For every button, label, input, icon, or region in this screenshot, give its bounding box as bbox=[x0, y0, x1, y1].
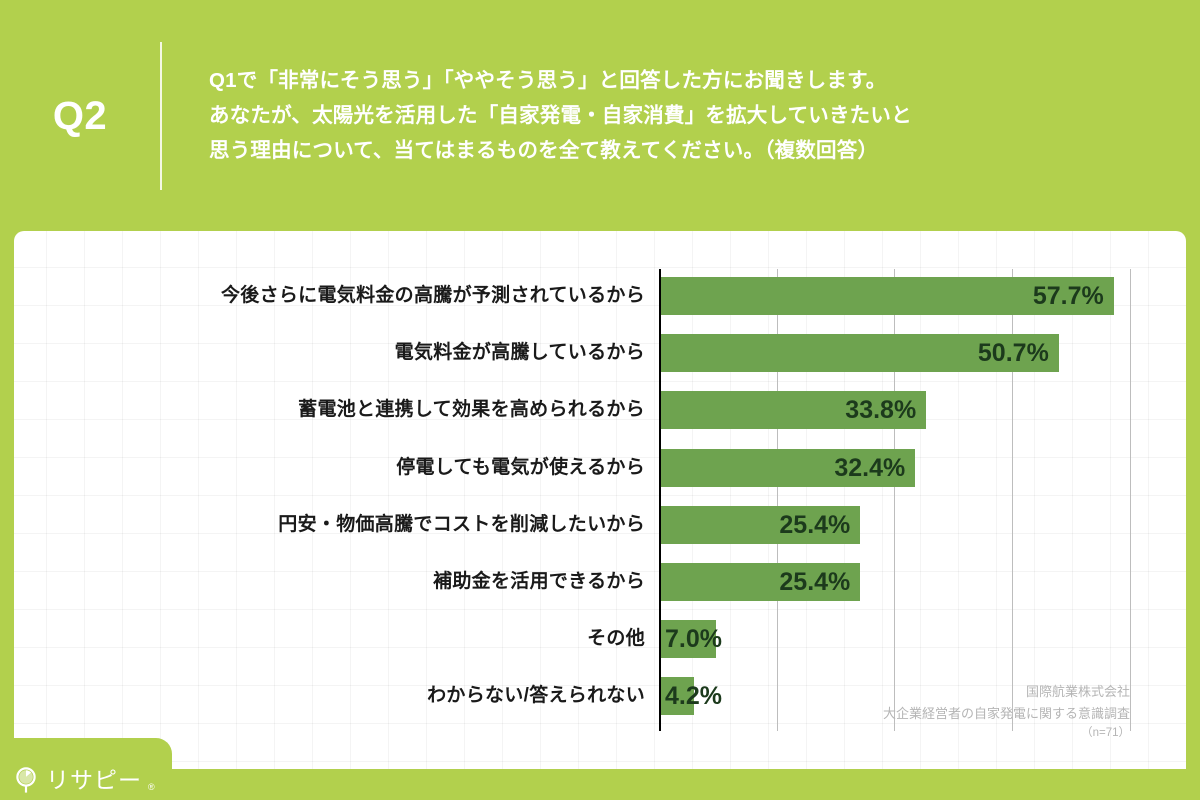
category-row: 蓄電池と連携して効果を高められるから bbox=[14, 391, 655, 429]
category-row: わからない/答えられない bbox=[14, 677, 655, 715]
question-number: Q2 bbox=[0, 96, 160, 136]
source-note: 国際航業株式会社 大企業経営者の自家発電に関する意識調査 （n=71） bbox=[883, 681, 1130, 743]
chart-card: 今後さらに電気料金の高騰が予測されているから電気料金が高騰しているから蓄電池と連… bbox=[14, 231, 1186, 769]
logo-text: リサピー bbox=[46, 769, 142, 792]
brand-logo[interactable]: リサピー ® bbox=[14, 766, 155, 794]
bars-group: 57.7%50.7%33.8%32.4%25.4%25.4%7.0%4.2% bbox=[661, 269, 1171, 731]
category-label: 蓄電池と連携して効果を高められるから bbox=[298, 391, 645, 429]
question-header: Q2 Q1で「非常にそう思う」「ややそう思う」と回答した方にお聞きします。 あな… bbox=[0, 0, 1200, 231]
bar-value-label: 33.8% bbox=[836, 391, 916, 429]
footer-bar: リサピー ® bbox=[0, 769, 1200, 800]
category-row: 今後さらに電気料金の高騰が予測されているから bbox=[14, 277, 655, 315]
bar-value-label: 25.4% bbox=[770, 563, 850, 601]
category-label: わからない/答えられない bbox=[427, 677, 645, 715]
question-line-3: 思う理由について、当てはまるものを全て教えてください。（複数回答） bbox=[209, 133, 912, 168]
bar-row: 33.8% bbox=[661, 391, 1171, 429]
bar-row: 57.7% bbox=[661, 277, 1171, 315]
plot-area: 57.7%50.7%33.8%32.4%25.4%25.4%7.0%4.2% bbox=[659, 269, 1171, 731]
logo-tab: リサピー ® bbox=[0, 738, 172, 800]
category-label: 電気料金が高騰しているから bbox=[395, 334, 645, 372]
source-sample-size: （n=71） bbox=[883, 724, 1130, 743]
category-axis-labels: 今後さらに電気料金の高騰が予測されているから電気料金が高騰しているから蓄電池と連… bbox=[14, 269, 655, 731]
source-survey: 大企業経営者の自家発電に関する意識調査 bbox=[883, 703, 1130, 724]
question-line-1: Q1で「非常にそう思う」「ややそう思う」と回答した方にお聞きします。 bbox=[209, 63, 912, 98]
category-row: 円安・物価高騰でコストを削減したいから bbox=[14, 506, 655, 544]
bar-row: 7.0% bbox=[661, 620, 1171, 658]
category-row: 補助金を活用できるから bbox=[14, 563, 655, 601]
category-label: 補助金を活用できるから bbox=[433, 563, 645, 601]
category-row: 電気料金が高騰しているから bbox=[14, 334, 655, 372]
category-label: 円安・物価高騰でコストを削減したいから bbox=[278, 506, 645, 544]
category-row: その他 bbox=[14, 620, 655, 658]
bar-value-label: 32.4% bbox=[825, 449, 905, 487]
category-label: その他 bbox=[587, 620, 645, 658]
bar-row: 25.4% bbox=[661, 506, 1171, 544]
poster-root: Q2 Q1で「非常にそう思う」「ややそう思う」と回答した方にお聞きします。 あな… bbox=[0, 0, 1200, 800]
bar-value-label: 57.7% bbox=[1024, 277, 1104, 315]
category-label: 停電しても電気が使えるから bbox=[396, 449, 645, 487]
logo-registered-mark: ® bbox=[148, 782, 155, 794]
category-row: 停電しても電気が使えるから bbox=[14, 449, 655, 487]
bar-value-label: 50.7% bbox=[969, 334, 1049, 372]
bar-row: 32.4% bbox=[661, 449, 1171, 487]
question-text: Q1で「非常にそう思う」「ややそう思う」と回答した方にお聞きします。 あなたが、… bbox=[162, 63, 912, 169]
bar-row: 25.4% bbox=[661, 563, 1171, 601]
magnifier-pie-icon bbox=[14, 766, 40, 794]
bar-row: 50.7% bbox=[661, 334, 1171, 372]
source-company: 国際航業株式会社 bbox=[883, 681, 1130, 702]
bar-value-label: 4.2% bbox=[665, 677, 722, 715]
bar-value-label: 25.4% bbox=[770, 506, 850, 544]
bar-value-label: 7.0% bbox=[665, 620, 722, 658]
category-label: 今後さらに電気料金の高騰が予測されているから bbox=[221, 277, 645, 315]
question-line-2: あなたが、太陽光を活用した「自家発電・自家消費」を拡大していきたいと bbox=[209, 98, 912, 133]
